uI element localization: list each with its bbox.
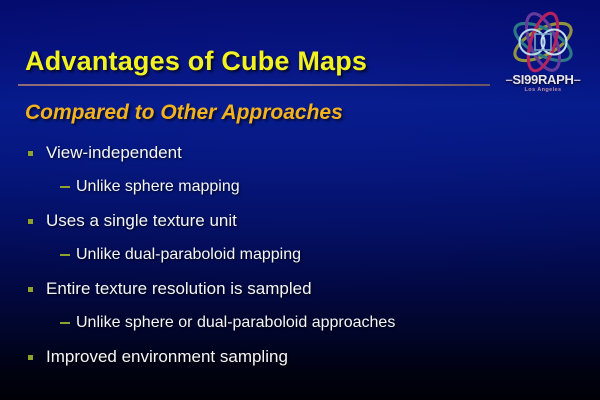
siggraph-wordmark: –SI99RAPH– (494, 72, 592, 87)
siggraph-location-label: Los Angeles (494, 87, 592, 93)
bullet-item: Improved environment sampling (0, 340, 600, 374)
bullet-text: Uses a single texture unit (46, 211, 237, 231)
siggraph-rings-icon (494, 8, 592, 78)
sub-bullet-item: Unlike sphere mapping (0, 170, 600, 204)
bullet-dash-icon (60, 186, 70, 188)
bullet-item: View-independent (0, 136, 600, 170)
sub-bullet-item: Unlike dual-paraboloid mapping (0, 238, 600, 272)
bullet-square-icon (28, 287, 33, 292)
bullet-square-icon (28, 355, 33, 360)
bullet-text: Improved environment sampling (46, 347, 288, 367)
sub-bullet-item: Unlike sphere or dual-paraboloid approac… (0, 306, 600, 340)
bullet-item: Uses a single texture unit (0, 204, 600, 238)
slide-subtitle: Compared to Other Approaches (25, 101, 343, 125)
bullet-item: Entire texture resolution is sampled (0, 272, 600, 306)
bullet-dash-icon (60, 322, 70, 324)
title-divider-rule (18, 84, 490, 86)
bullet-square-icon (28, 151, 33, 156)
slide-title: Advantages of Cube Maps (25, 46, 367, 77)
siggraph-logo: –SI99RAPH– Los Angeles (494, 8, 592, 102)
bullet-text: View-independent (46, 143, 182, 163)
wordmark-text: SI99RAPH (512, 72, 573, 87)
sub-bullet-text: Unlike dual-paraboloid mapping (76, 246, 301, 264)
bullet-list: View-independent Unlike sphere mapping U… (0, 136, 600, 374)
bullet-text: Entire texture resolution is sampled (46, 279, 312, 299)
presentation-slide: Advantages of Cube Maps Compared to Othe… (0, 0, 600, 400)
bullet-dash-icon (60, 254, 70, 256)
sub-bullet-text: Unlike sphere mapping (76, 178, 240, 196)
bullet-square-icon (28, 219, 33, 224)
sub-bullet-text: Unlike sphere or dual-paraboloid approac… (76, 314, 395, 332)
wordmark-right-dash: – (574, 72, 581, 87)
